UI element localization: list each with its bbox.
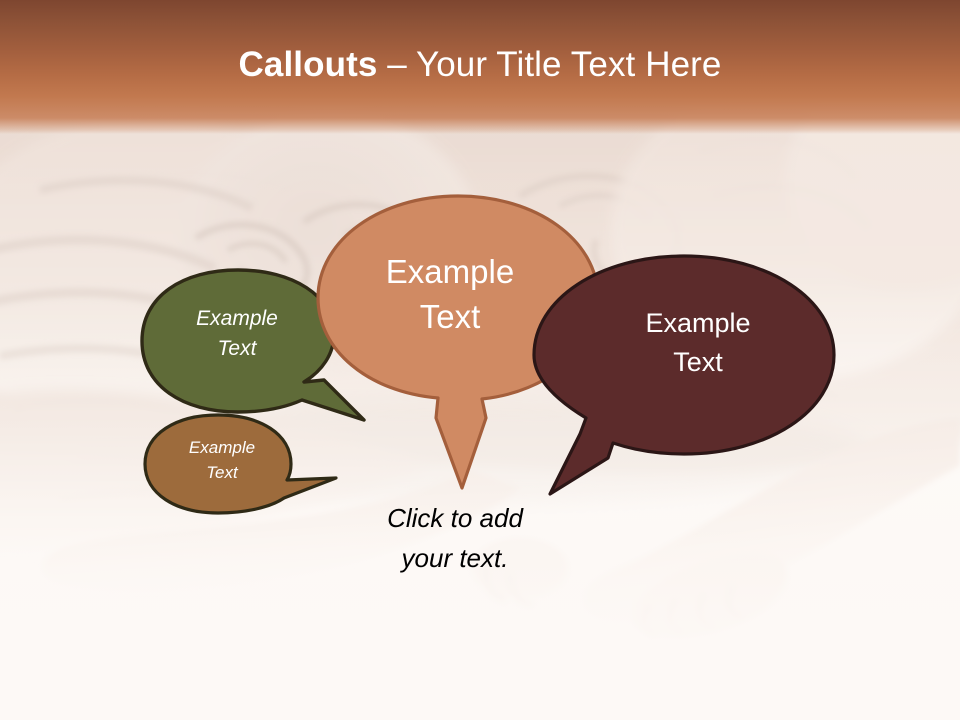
- page-title-bold: Callouts: [239, 45, 378, 84]
- callout-maroon-shape: [528, 252, 840, 502]
- header-band: Callouts – Your Title Text Here: [0, 0, 960, 134]
- page-title: Callouts – Your Title Text Here: [0, 44, 960, 86]
- body-placeholder-text[interactable]: Click to add your text.: [330, 498, 580, 578]
- page-title-rest: – Your Title Text Here: [377, 45, 721, 84]
- slide-canvas: Callouts – Your Title Text Here Example …: [0, 0, 960, 720]
- callout-maroon[interactable]: Example Text: [528, 252, 840, 490]
